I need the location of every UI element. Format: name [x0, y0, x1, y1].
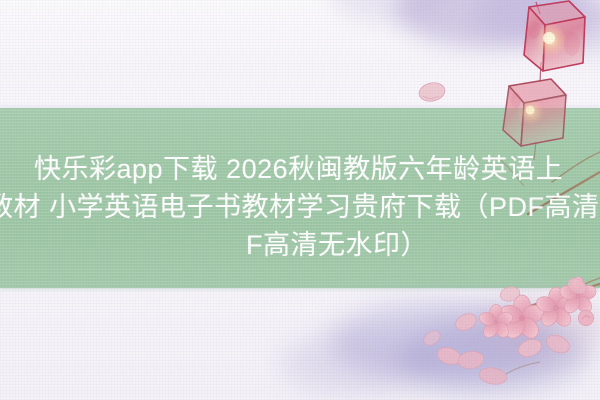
promo-banner: 快乐彩app下载 2026秋闽教版六年龄英语上 教材 小学英语电子书教材学习贵府…	[0, 0, 600, 400]
band-bottom-edge	[0, 286, 600, 292]
green-band	[0, 108, 600, 288]
